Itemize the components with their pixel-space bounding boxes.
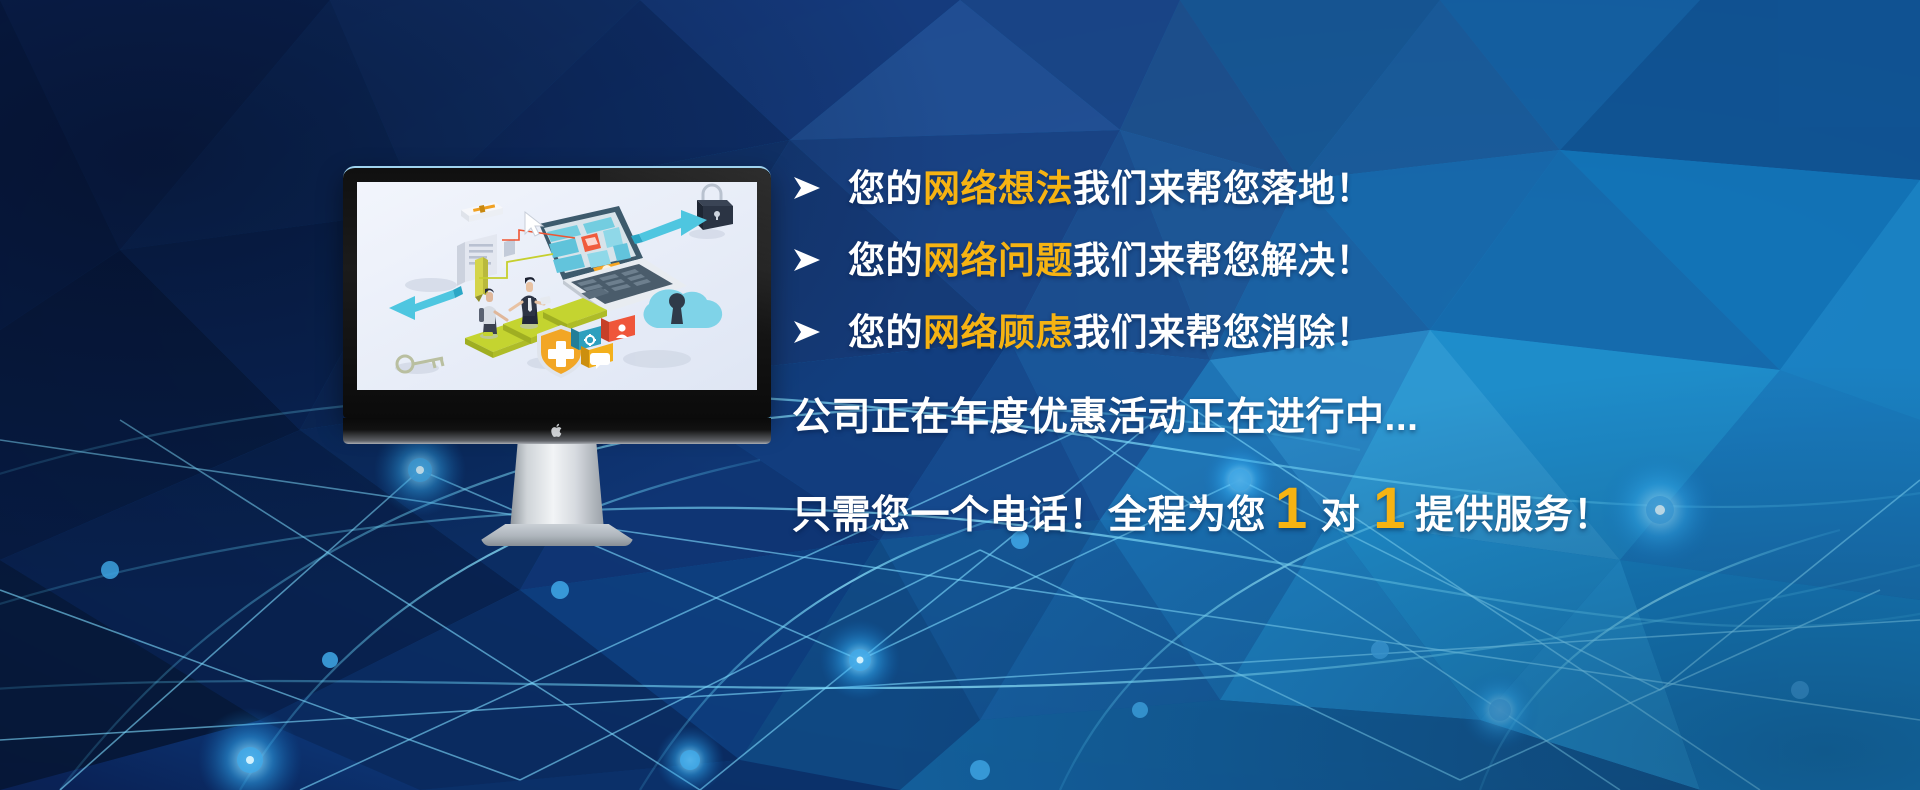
monitor-bezel (343, 166, 771, 418)
cta-number-second: 1 (1364, 483, 1415, 535)
bullet-pre-1: 您的 (848, 168, 923, 209)
cta-line: 只需您一个电话！全程为您 1 对 1 提供服务！ (792, 483, 1812, 535)
bullet-highlight-3: 网络顾虑 (923, 312, 1073, 353)
bullet-text-3: 您的网络顾虑我们来帮您消除！ (848, 314, 1373, 351)
cta-part-2: 提供服务！ (1415, 496, 1613, 535)
monitor-stand-neck (510, 444, 604, 530)
banner-copy-block: 您的网络想法我们来帮您落地！ 您的网络问题我们来帮您解决！ 您的网络顾虑我们来帮… (792, 152, 1812, 535)
apple-logo-icon (551, 423, 564, 438)
cta-number-first: 1 (1266, 483, 1317, 535)
bullet-post-2: 我们来帮您解决！ (1073, 240, 1373, 281)
promo-line: 公司正在年度优惠活动正在进行中... (792, 398, 1812, 437)
promo-banner: 您的网络想法我们来帮您落地！ 您的网络问题我们来帮您解决！ 您的网络顾虑我们来帮… (0, 0, 1920, 790)
cta-middle-word: 对 (1317, 496, 1365, 535)
arrow-bullet-icon (792, 247, 822, 273)
bullet-post-1: 我们来帮您落地！ (1073, 168, 1373, 209)
cta-part-1: 只需您一个电话！全程为您 (792, 496, 1266, 535)
bullet-highlight-2: 网络问题 (923, 240, 1073, 281)
bullet-text-1: 您的网络想法我们来帮您落地！ (848, 170, 1373, 207)
bullet-pre-3: 您的 (848, 312, 923, 353)
bullet-line-3: 您的网络顾虑我们来帮您消除！ (792, 296, 1812, 368)
monitor-stand-base (481, 524, 633, 546)
bullet-line-1: 您的网络想法我们来帮您落地！ (792, 152, 1812, 224)
bullet-highlight-1: 网络想法 (923, 168, 1073, 209)
bullet-post-3: 我们来帮您消除！ (1073, 312, 1373, 353)
bullet-text-2: 您的网络问题我们来帮您解决！ (848, 242, 1373, 279)
bullet-pre-2: 您的 (848, 240, 923, 281)
bullet-line-2: 您的网络问题我们来帮您解决！ (792, 224, 1812, 296)
arrow-bullet-icon (792, 319, 822, 345)
monitor-screen (357, 182, 757, 390)
desktop-monitor-illustration (343, 166, 771, 562)
arrow-bullet-icon (792, 175, 822, 201)
isometric-network-scene (357, 182, 757, 390)
